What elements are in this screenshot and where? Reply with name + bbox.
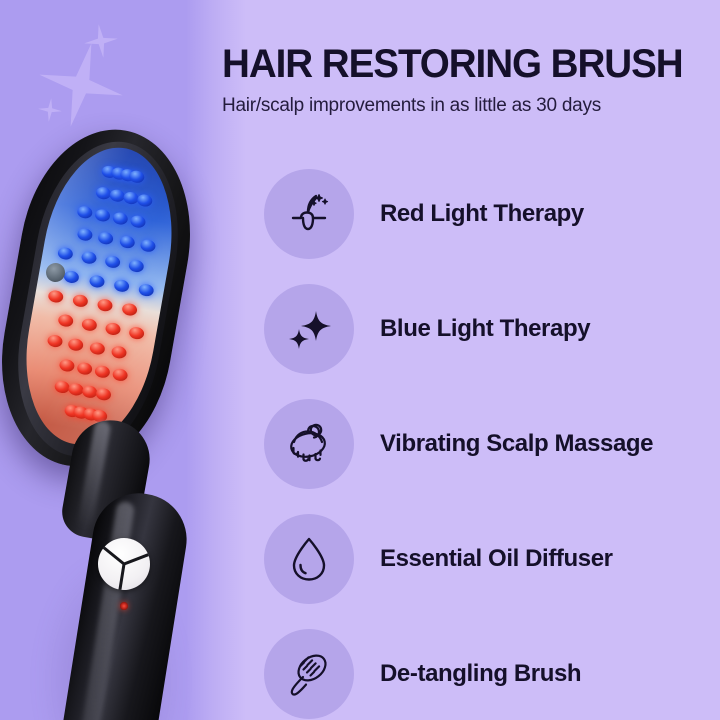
feature-label: Red Light Therapy: [380, 200, 584, 228]
page-subtitle: Hair/scalp improvements in as little as …: [222, 95, 700, 117]
feature-label: De-tangling Brush: [380, 660, 581, 688]
feature-row-oil-diffuser: Essential Oil Diffuser: [264, 501, 704, 616]
power-button-divider-b: [103, 546, 125, 565]
water-droplet-icon: [264, 514, 354, 604]
product-image: [0, 120, 230, 720]
page-title: HAIR RESTORING BRUSH: [222, 44, 683, 84]
power-button-divider-a: [118, 564, 125, 590]
feature-row-scalp-massage: Vibrating Scalp Massage: [264, 386, 704, 501]
paddle-brush-icon: [264, 629, 354, 719]
feature-row-detangling-brush: De-tangling Brush: [264, 616, 704, 720]
feature-label: Essential Oil Diffuser: [380, 545, 613, 573]
feature-label: Vibrating Scalp Massage: [380, 430, 653, 458]
red-status-led: [120, 602, 128, 610]
feature-row-red-light: Red Light Therapy: [264, 156, 704, 271]
infographic-canvas: HAIR RESTORING BRUSH Hair/scalp improvem…: [0, 0, 720, 720]
feature-list: Red Light Therapy Blue Light Therapy: [264, 156, 704, 720]
power-button-divider-c: [123, 553, 148, 565]
header-block: HAIR RESTORING BRUSH Hair/scalp improvem…: [222, 44, 700, 117]
feature-label: Blue Light Therapy: [380, 315, 590, 343]
feature-row-blue-light: Blue Light Therapy: [264, 271, 704, 386]
hair-follicle-icon: [264, 169, 354, 259]
sparkle-stars-icon: [264, 284, 354, 374]
scalp-massager-icon: [264, 399, 354, 489]
